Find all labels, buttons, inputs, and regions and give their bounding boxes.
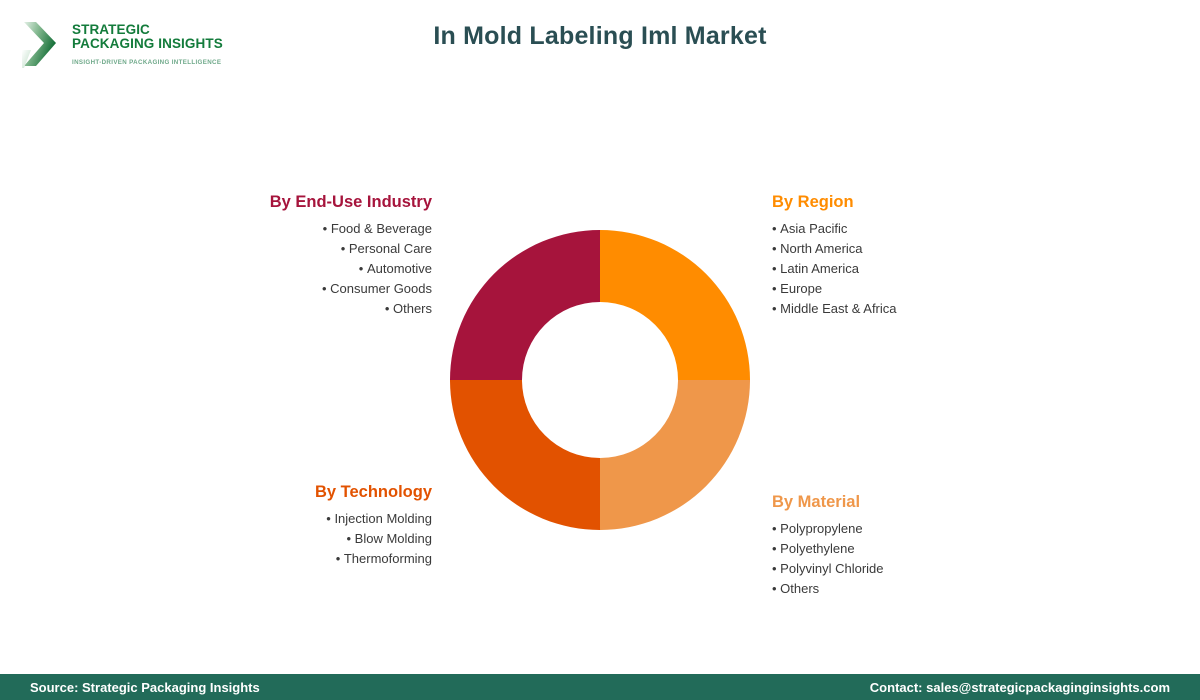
logo-tagline: INSIGHT-DRIVEN PACKAGING INTELLIGENCE [72,59,223,66]
donut-segment [600,230,750,380]
list-item: Latin America [772,259,1052,279]
donut-chart [450,230,750,530]
footer-contact: Contact: sales@strategicpackaginginsight… [870,680,1170,695]
category-block-technology: By Technology Injection Molding Blow Mol… [184,483,432,569]
list-item: Europe [772,279,1052,299]
category-list-end-use-industry: Food & Beverage Personal Care Automotive… [176,219,432,319]
list-item: Others [176,299,432,319]
category-title-end-use-industry: By End-Use Industry [176,193,432,212]
page-title: In Mold Labeling Iml Market [0,22,1200,51]
list-item: Others [772,579,1052,599]
list-item: Personal Care [176,239,432,259]
list-item: Polyvinyl Chloride [772,559,1052,579]
category-list-material: Polypropylene Polyethylene Polyvinyl Chl… [772,519,1052,599]
category-title-material: By Material [772,493,1052,512]
category-block-region: By Region Asia Pacific North America Lat… [772,193,1052,319]
list-item: Consumer Goods [176,279,432,299]
donut-segment [450,230,600,380]
footer-source: Source: Strategic Packaging Insights [30,680,260,695]
list-item: Polypropylene [772,519,1052,539]
category-block-end-use-industry: By End-Use Industry Food & Beverage Pers… [176,193,432,319]
footer-bar: Source: Strategic Packaging Insights Con… [0,674,1200,700]
list-item: Food & Beverage [176,219,432,239]
list-item: Blow Molding [184,529,432,549]
list-item: Injection Molding [184,509,432,529]
list-item: Polyethylene [772,539,1052,559]
list-item: Thermoforming [184,549,432,569]
list-item: North America [772,239,1052,259]
list-item: Automotive [176,259,432,279]
category-list-technology: Injection Molding Blow Molding Thermofor… [184,509,432,569]
category-list-region: Asia Pacific North America Latin America… [772,219,1052,319]
donut-segment [450,380,600,530]
list-item: Asia Pacific [772,219,1052,239]
category-title-technology: By Technology [184,483,432,502]
donut-segment [600,380,750,530]
category-block-material: By Material Polypropylene Polyethylene P… [772,493,1052,599]
list-item: Middle East & Africa [772,299,1052,319]
category-title-region: By Region [772,193,1052,212]
